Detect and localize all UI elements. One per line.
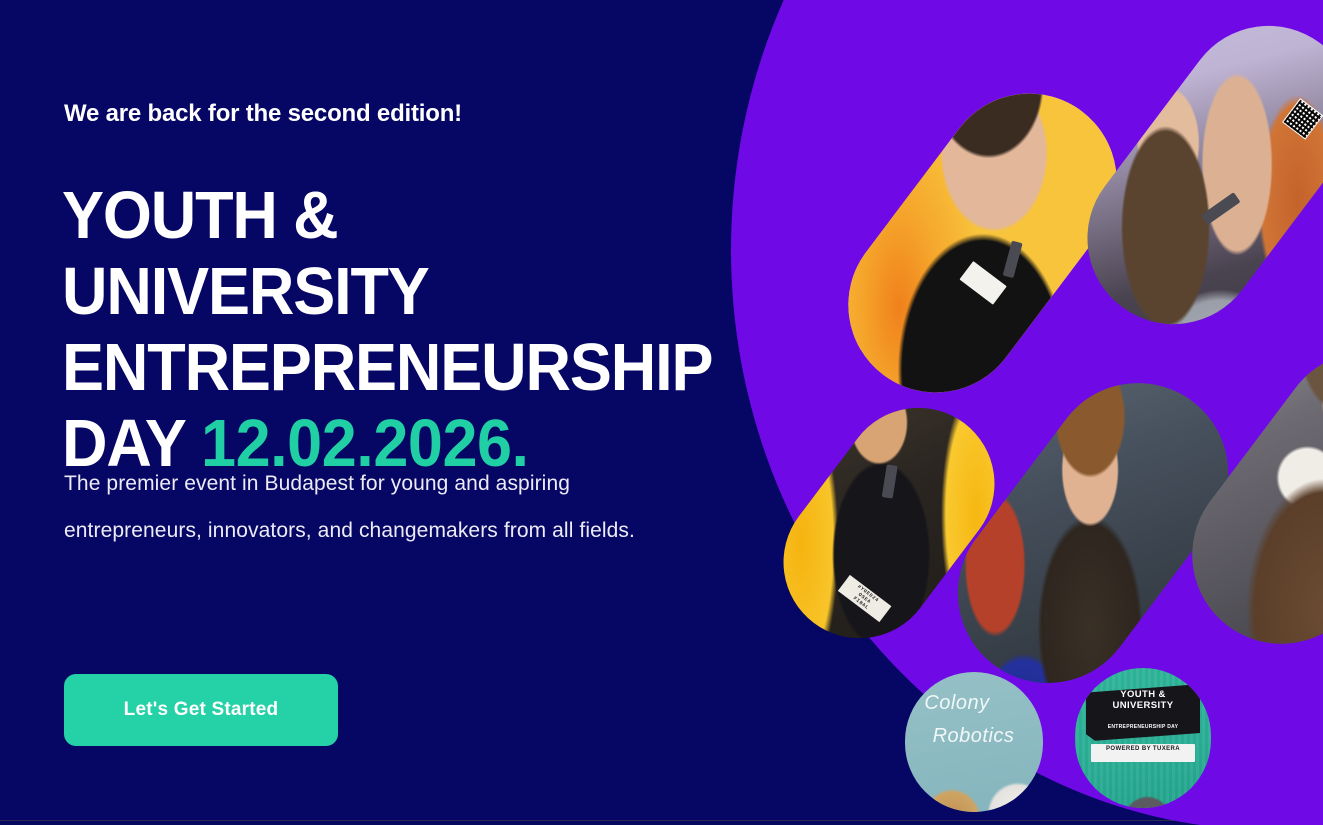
- photo-young-man-with-microphone: [843, 59, 1123, 428]
- headline-line-1: YOUTH & UNIVERSITY: [62, 178, 429, 329]
- banner-subtitle: ENTREPRENEURSHIP DAY: [1089, 724, 1198, 730]
- photo-audience-panel: [1083, 0, 1323, 359]
- colony-robotics-line-1: Colony: [911, 692, 1038, 715]
- hero-section: #YUED24 OSEA FINAL Colony Robotics: [0, 0, 1323, 825]
- hero-content: We are back for the second edition! YOUT…: [0, 0, 760, 825]
- banner-title: YOUTH & UNIVERSITY: [1089, 690, 1198, 711]
- photo-collage: #YUED24 OSEA FINAL Colony Robotics: [735, 0, 1323, 825]
- headline-line-2: ENTREPRENEURSHIP: [62, 330, 712, 405]
- yued-banner-artwork: YOUTH & UNIVERSITY ENTREPRENEURSHIP DAY …: [1075, 668, 1211, 808]
- banner-title-line-2: UNIVERSITY: [1089, 701, 1198, 712]
- hero-eyebrow: We are back for the second edition!: [64, 100, 462, 128]
- hero-description: The premier event in Budapest for young …: [64, 460, 704, 554]
- collage-photo-yued-banner: YOUTH & UNIVERSITY ENTREPRENEURSHIP DAY …: [1075, 668, 1211, 808]
- colony-robotics-line-2: Robotics: [911, 725, 1038, 748]
- collage-photo-colony-robotics: Colony Robotics: [905, 672, 1043, 812]
- lets-get-started-button[interactable]: Let's Get Started: [64, 674, 338, 746]
- page-title: YOUTH & UNIVERSITYENTREPRENEURSHIPDAY 12…: [62, 178, 720, 482]
- banner-sponsor: POWERED BY TUXERA: [1091, 746, 1194, 752]
